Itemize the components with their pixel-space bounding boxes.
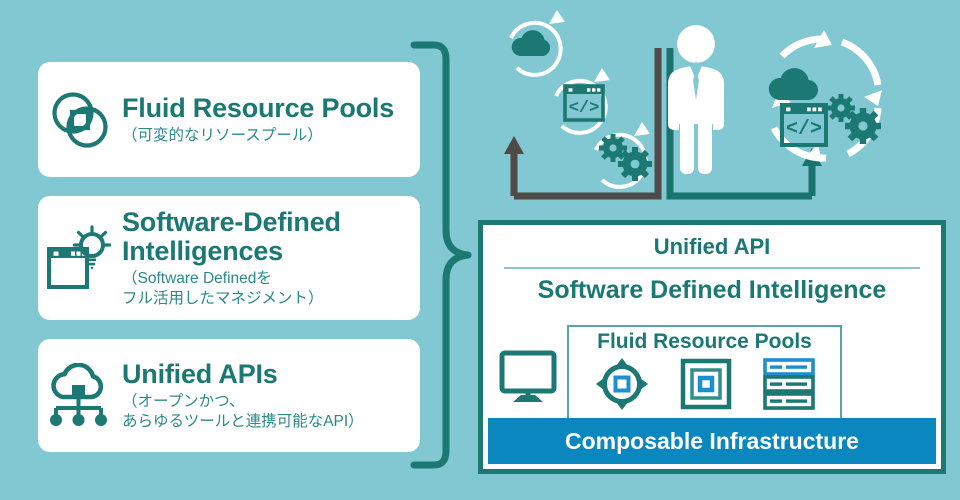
compute-node-icon [594, 356, 650, 417]
svg-text:</>: </> [569, 99, 600, 118]
server-rack-icon [763, 358, 815, 415]
card-title: Unified APIs [122, 360, 410, 389]
svg-text:</>: </> [786, 118, 822, 141]
storage-stack-icon [680, 358, 732, 415]
card-subtitle: （オープンかつ、 あらゆるツールと連携可能なAPI） [122, 392, 410, 431]
card-software-defined-intelligences[interactable]: Software-Defined Intelligences （Software… [38, 196, 420, 320]
card-title: Software-Defined Intelligences [122, 208, 410, 266]
card-text-block: Unified APIs （オープンかつ、 あらゆるツールと連携可能なAPI） [122, 360, 420, 431]
gears-cycle-icon [596, 122, 652, 187]
code-window-cycle-icon: </> [556, 68, 610, 133]
card-text-block: Fluid Resource Pools （可変的なリソースプール） [122, 94, 420, 146]
diagram-canvas: Fluid Resource Pools （可変的なリソースプール） [0, 0, 960, 500]
cloud-cycle-icon [511, 10, 565, 75]
card-title: Fluid Resource Pools [122, 94, 410, 123]
business-person-icon [668, 25, 724, 174]
card-subtitle: （Software Definedを フル活用したマネジメント） [122, 269, 410, 308]
overlapping-circles-square-icon [38, 89, 122, 151]
resource-icon-row [569, 354, 840, 417]
panel-body: Unified API Software Defined Intelligenc… [483, 225, 941, 469]
cloud-network-icon [38, 363, 122, 429]
monitor-icon [499, 350, 557, 411]
fluid-resource-pools-box: Fluid Resource Pools [567, 325, 842, 423]
fluid-resource-pools-label: Fluid Resource Pools [569, 327, 840, 354]
card-unified-apis[interactable]: Unified APIs （オープンかつ、 あらゆるツールと連携可能なAPI） [38, 339, 420, 452]
composable-infrastructure-bar: Composable Infrastructure [488, 418, 936, 464]
card-text-block: Software-Defined Intelligences （Software… [122, 208, 420, 308]
card-subtitle: （可変的なリソースプール） [122, 126, 410, 145]
card-fluid-resource-pools[interactable]: Fluid Resource Pools （可変的なリソースプール） [38, 62, 420, 177]
lightbulb-window-icon [38, 223, 122, 293]
software-defined-intelligence-label: Software Defined Intelligence [483, 269, 941, 305]
curly-brace-connector [404, 40, 484, 470]
composable-infrastructure-panel: Unified API Software Defined Intelligenc… [478, 220, 946, 474]
unified-api-label: Unified API [483, 225, 941, 260]
cloud-code-gears-cycle-icon: </> [769, 30, 882, 162]
process-illustration: </> [490, 0, 960, 218]
